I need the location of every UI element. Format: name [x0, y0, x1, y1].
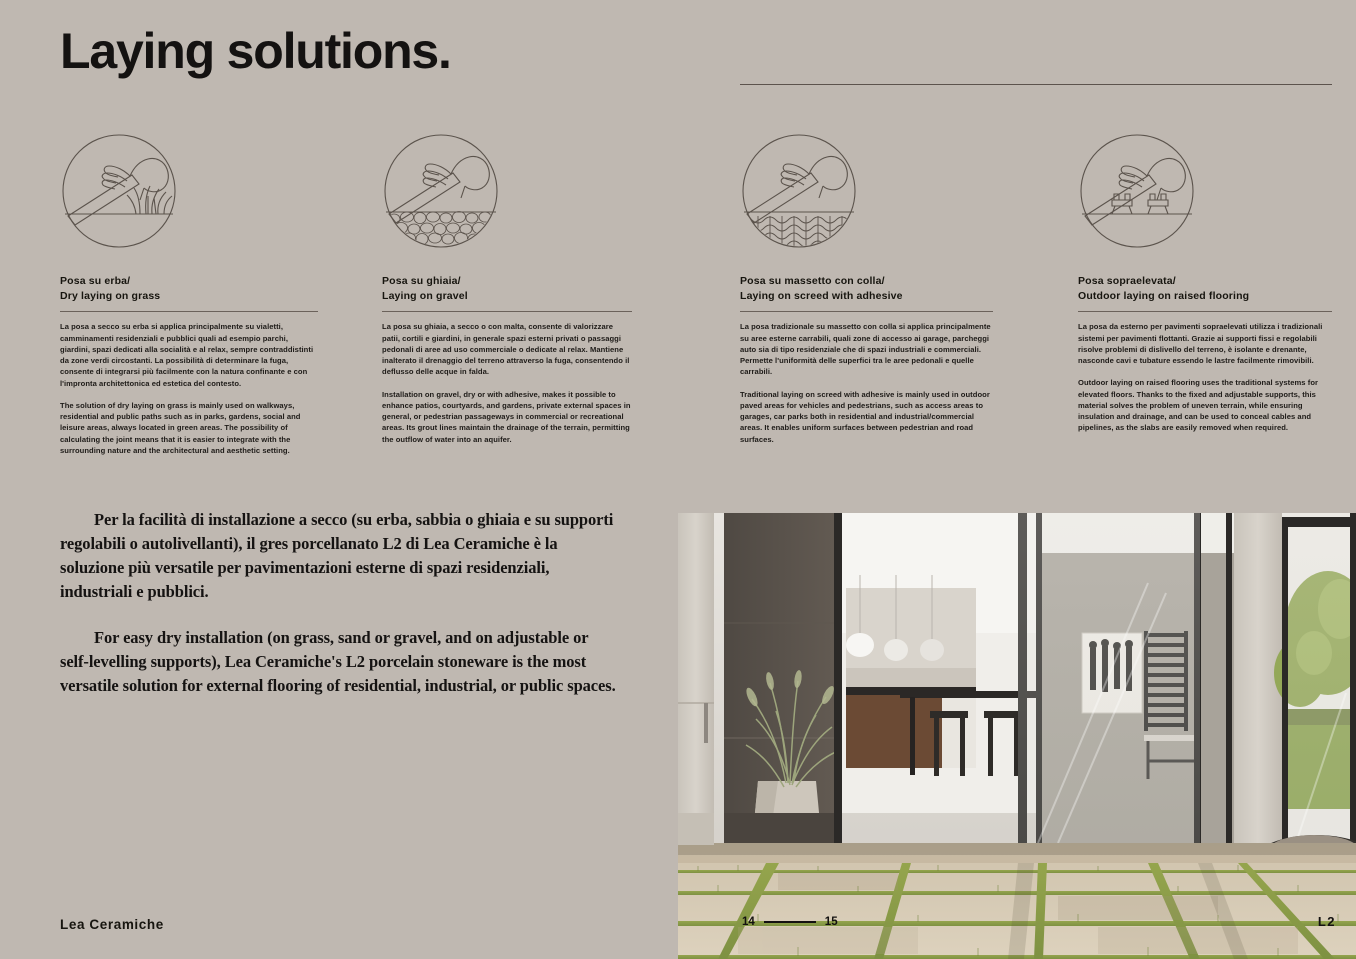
page-number-dash: [764, 921, 816, 923]
body-italian: La posa tradizionale su massetto con col…: [740, 321, 993, 377]
brand-logo: Lea Ceramiche: [60, 917, 164, 932]
header-divider: [740, 84, 1332, 85]
product-mark: L2: [1318, 914, 1336, 929]
laying-method-column-raised: Posa sopraelevata/ Outdoor laying on rai…: [1078, 132, 1332, 434]
body-english: Installation on gravel, dry or with adhe…: [382, 389, 632, 445]
body-italian: La posa a secco su erba si applica princ…: [60, 321, 318, 388]
hand-laying-tile-on-grass-icon: [60, 132, 178, 250]
laying-method-column-screed: Posa su massetto con colla/ Laying on sc…: [740, 132, 993, 445]
hand-laying-tile-on-raised-pedestals-icon: [1078, 132, 1196, 250]
column-heading: Posa su erba/ Dry laying on grass: [60, 274, 318, 304]
column-heading: Posa su massetto con colla/ Laying on sc…: [740, 274, 993, 304]
body-italian: La posa su ghiaia, a secco o con malta, …: [382, 321, 632, 377]
project-photograph: 14 15 L2: [678, 513, 1356, 959]
catalogue-page: Laying solutions.: [0, 0, 1356, 959]
intro-italian: Per la facilità di installazione a secco…: [60, 508, 620, 604]
laying-method-column-grass: Posa su erba/ Dry laying on grass La pos…: [60, 132, 318, 456]
page-title: Laying solutions.: [60, 25, 451, 78]
column-body: La posa tradizionale su massetto con col…: [740, 321, 993, 444]
heading-divider: [60, 311, 318, 312]
heading-divider: [1078, 311, 1332, 312]
column-body: La posa su ghiaia, a secco o con malta, …: [382, 321, 632, 444]
column-heading: Posa su ghiaia/ Laying on gravel: [382, 274, 632, 304]
body-italian: La posa da esterno per pavimenti soprael…: [1078, 321, 1332, 366]
laying-method-column-gravel: Posa su ghiaia/ Laying on gravel La posa…: [382, 132, 632, 445]
intro-english: For easy dry installation (on grass, san…: [60, 626, 620, 698]
body-english: The solution of dry laying on grass is m…: [60, 400, 318, 456]
page-number-indicator: 14 15: [742, 916, 838, 928]
intro-text: Per la facilità di installazione a secco…: [60, 508, 620, 699]
heading-divider: [382, 311, 632, 312]
column-body: La posa a secco su erba si applica princ…: [60, 321, 318, 456]
page-number-left: 14: [742, 916, 755, 928]
column-heading: Posa sopraelevata/ Outdoor laying on rai…: [1078, 274, 1332, 304]
body-english: Traditional laying on screed with adhesi…: [740, 389, 993, 445]
column-body: La posa da esterno per pavimenti soprael…: [1078, 321, 1332, 433]
hand-laying-tile-on-gravel-icon: [382, 132, 500, 250]
body-english: Outdoor laying on raised flooring uses t…: [1078, 377, 1332, 433]
page-number-right: 15: [825, 916, 838, 928]
hand-laying-tile-on-screed-adhesive-icon: [740, 132, 858, 250]
heading-divider: [740, 311, 993, 312]
